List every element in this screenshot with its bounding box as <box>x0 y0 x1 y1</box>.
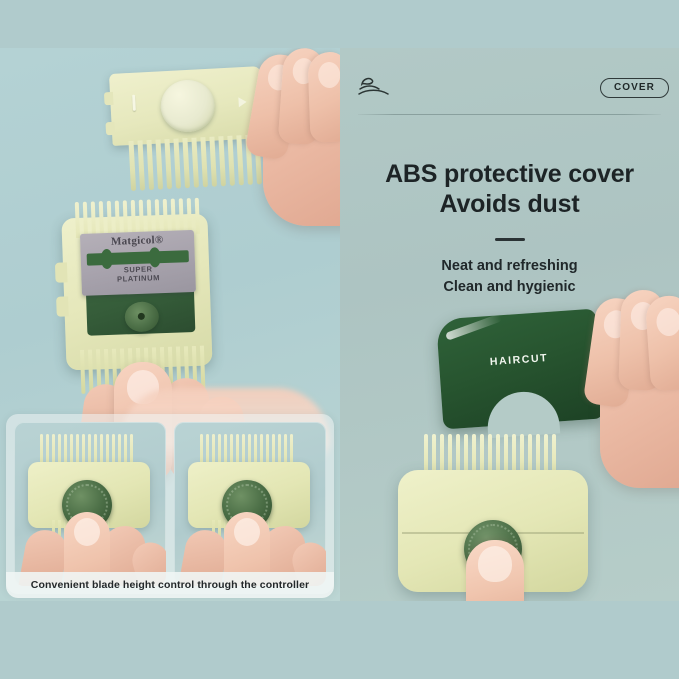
content-band: Matgicol® SUPER PLATINUM <box>0 48 679 601</box>
headline-line-2: Avoids dust <box>340 190 679 220</box>
abs-protective-cover: HAIRCUT <box>436 309 604 440</box>
left-photo-panel: Matgicol® SUPER PLATINUM <box>0 48 340 601</box>
comb-side-lug <box>104 92 114 105</box>
headline: ABS protective cover Avoids dust <box>340 160 679 219</box>
finger <box>307 51 340 142</box>
headline-dash <box>495 238 525 241</box>
hand-holding-comb <box>245 48 340 228</box>
thumbnail <box>234 518 260 546</box>
cover-badge: COVER <box>600 78 669 98</box>
comb-teeth <box>129 134 263 191</box>
right-copy-panel: COVER ABS protective cover Avoids dust N… <box>340 48 679 601</box>
subheadline: Neat and refreshing Clean and hygienic <box>340 256 679 297</box>
inset-demo-right <box>174 422 326 586</box>
infographic-canvas: Matgicol® SUPER PLATINUM <box>0 0 679 679</box>
razor-subtitle-label: SUPER PLATINUM <box>81 263 196 286</box>
fingernail <box>318 62 340 89</box>
fingernail <box>656 307 679 337</box>
hand-cover-line-icon <box>358 75 392 101</box>
comb-attachment-with-knob <box>109 66 267 194</box>
housing-side-lug <box>56 296 69 316</box>
finger <box>645 295 679 392</box>
headline-line-1: ABS protective cover <box>340 160 679 190</box>
inset-caption-text: Convenient blade height control through … <box>31 579 309 591</box>
comb-side-lug <box>105 122 115 135</box>
header-divider <box>358 114 661 115</box>
housing-side-lug <box>55 262 68 282</box>
thumbnail <box>478 546 512 582</box>
panel-header: COVER <box>358 70 669 106</box>
thumb-on-dial <box>466 540 524 601</box>
hand-holding-cover <box>586 296 679 486</box>
razor-brand-label: Matgicol® <box>80 233 194 249</box>
subheadline-line-1: Neat and refreshing <box>340 256 679 277</box>
inset-demo-left <box>14 422 166 586</box>
inset-card-group <box>6 414 334 594</box>
inset-caption-bar: Convenient blade height control through … <box>6 572 334 598</box>
clipper-head-with-dial <box>398 428 588 601</box>
thumbnail <box>74 518 100 546</box>
razor-blade: Matgicol® SUPER PLATINUM <box>80 230 196 296</box>
